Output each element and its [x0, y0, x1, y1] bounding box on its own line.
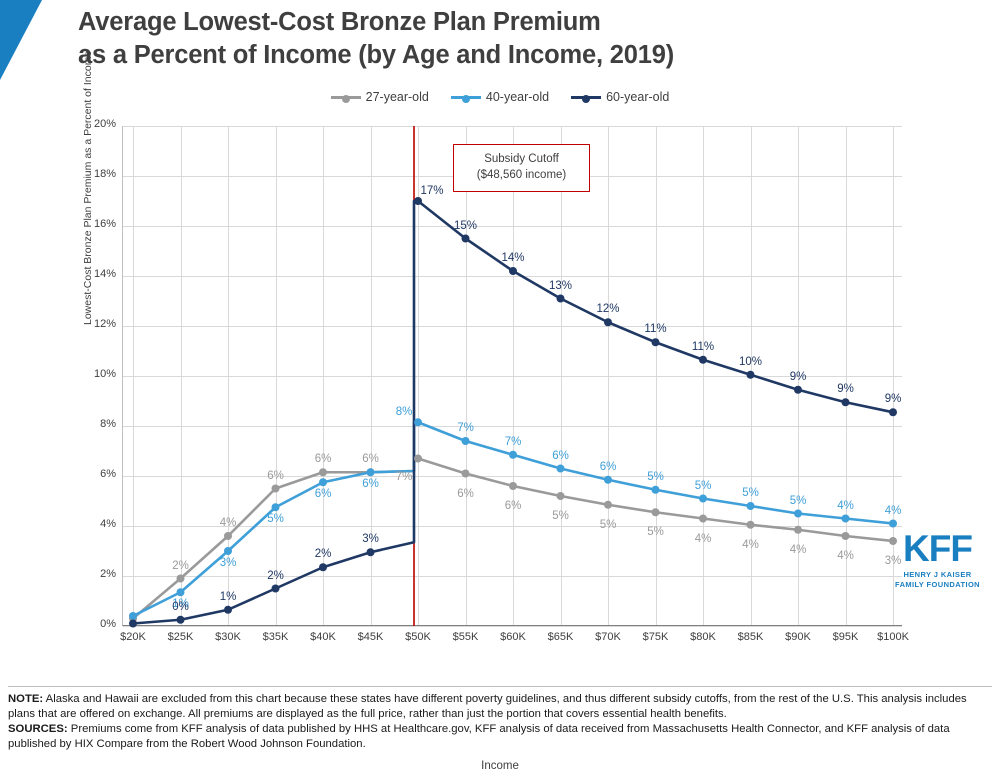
cutoff-line-1: Subsidy Cutoff	[484, 152, 559, 168]
x-tick-label: $65K	[535, 631, 587, 643]
y-tick-label: 0%	[70, 618, 116, 630]
y-tick-label: 18%	[70, 168, 116, 180]
y-axis-label: Lowest-Cost Bronze Plan Premium as a Per…	[82, 51, 94, 325]
footnotes: NOTE: Alaska and Hawaii are excluded fro…	[8, 686, 992, 752]
data-point	[699, 515, 707, 523]
data-label: 6%	[552, 450, 569, 462]
data-label: 1%	[220, 591, 237, 603]
data-point	[747, 371, 755, 379]
plot-canvas: 0%2%4%6%8%10%12%14%16%18%20% $20K$25K$30…	[122, 126, 902, 626]
data-point	[842, 398, 850, 406]
data-point	[129, 620, 137, 628]
data-label: 6%	[600, 461, 617, 473]
data-label: 12%	[596, 303, 619, 315]
data-label: 6%	[267, 470, 284, 482]
data-point	[129, 612, 137, 620]
data-point	[557, 492, 565, 500]
data-label: 6%	[315, 488, 332, 500]
x-tick-label: $70K	[582, 631, 634, 643]
legend-item-60: 60-year-old	[571, 90, 669, 104]
y-tick-label: 12%	[70, 318, 116, 330]
data-label: 5%	[790, 495, 807, 507]
data-point	[794, 526, 802, 534]
data-label: 14%	[501, 252, 524, 264]
data-label: 4%	[790, 544, 807, 556]
data-label: 4%	[837, 550, 854, 562]
data-point	[414, 197, 422, 205]
legend-swatch-60	[571, 96, 601, 99]
data-point	[652, 508, 660, 516]
data-point	[747, 502, 755, 510]
data-label: 5%	[267, 513, 284, 525]
legend-item-40: 40-year-old	[451, 90, 549, 104]
y-tick-label: 6%	[70, 468, 116, 480]
x-tick-label: $30K	[202, 631, 254, 643]
data-label: 2%	[267, 570, 284, 582]
x-tick-label: $75K	[630, 631, 682, 643]
x-axis-label: Income	[0, 760, 1000, 772]
data-point	[509, 451, 517, 459]
x-tick-label: $35K	[250, 631, 302, 643]
data-point	[842, 532, 850, 540]
data-label: 5%	[600, 519, 617, 531]
note-text: Alaska and Hawaii are excluded from this…	[8, 693, 967, 720]
data-label: 4%	[885, 505, 902, 517]
kff-logo: KFF HENRY J KAISER FAMILY FOUNDATION	[895, 530, 980, 590]
data-point	[272, 485, 280, 493]
data-point	[604, 501, 612, 509]
legend-label-60: 60-year-old	[606, 90, 669, 104]
data-point	[699, 356, 707, 364]
data-point	[462, 235, 470, 243]
data-label: 5%	[647, 471, 664, 483]
data-point	[557, 295, 565, 303]
kff-logo-sub: HENRY J KAISER FAMILY FOUNDATION	[895, 570, 980, 590]
data-point	[699, 495, 707, 503]
data-point	[367, 548, 375, 556]
data-point	[652, 338, 660, 346]
data-label: 5%	[742, 487, 759, 499]
title-line-1-text: Average Lowest-Cost Bronze Plan Premium	[78, 6, 958, 39]
data-point	[224, 532, 232, 540]
page-title: Average Lowest-Cost Bronze Plan Premium …	[78, 6, 958, 71]
subsidy-cutoff-annotation: Subsidy Cutoff ($48,560 income)	[453, 144, 590, 192]
data-label: 17%	[420, 185, 443, 197]
data-point	[367, 468, 375, 476]
sources-block: SOURCES: Premiums come from KFF analysis…	[8, 722, 992, 752]
data-point	[557, 465, 565, 473]
sources-label: SOURCES:	[8, 723, 68, 735]
data-label: 5%	[552, 510, 569, 522]
data-label: 5%	[695, 480, 712, 492]
data-point	[842, 515, 850, 523]
data-label: 6%	[505, 500, 522, 512]
data-label: 11%	[644, 323, 666, 335]
series-line-60-year-old	[133, 201, 893, 624]
data-point	[272, 585, 280, 593]
data-label: 15%	[454, 220, 477, 232]
legend-item-27: 27-year-old	[331, 90, 429, 104]
data-label: 6%	[362, 453, 379, 465]
legend-label-27: 27-year-old	[366, 90, 429, 104]
x-tick-label: $60K	[487, 631, 539, 643]
data-point	[414, 455, 422, 463]
decorative-corner	[0, 0, 42, 80]
y-tick-label: 14%	[70, 268, 116, 280]
data-label: 7%	[505, 436, 522, 448]
data-point	[509, 267, 517, 275]
data-point	[652, 486, 660, 494]
data-label: 5%	[647, 526, 664, 538]
data-point	[509, 482, 517, 490]
y-tick-label: 16%	[70, 218, 116, 230]
x-tick-label: $85K	[725, 631, 777, 643]
data-point	[224, 606, 232, 614]
legend-swatch-40	[451, 96, 481, 99]
x-tick-label: $50K	[392, 631, 444, 643]
note-label: NOTE:	[8, 693, 43, 705]
data-point	[272, 503, 280, 511]
x-tick-label: $95K	[820, 631, 872, 643]
data-point	[889, 408, 897, 416]
data-label: 0%	[172, 601, 189, 613]
kff-logo-main: KFF	[895, 530, 980, 567]
data-point	[462, 437, 470, 445]
y-tick-label: 4%	[70, 518, 116, 530]
data-label: 7%	[396, 471, 413, 483]
data-label: 10%	[739, 356, 762, 368]
data-label: 7%	[457, 422, 474, 434]
kff-logo-sub-2: FAMILY FOUNDATION	[895, 580, 980, 590]
y-tick-label: 8%	[70, 418, 116, 430]
title-line-2-text: as a Percent of Income (by Age and Incom…	[78, 39, 958, 72]
chart-legend: 27-year-old 40-year-old 60-year-old	[0, 90, 1000, 104]
data-label: 9%	[885, 393, 902, 405]
x-tick-label: $90K	[772, 631, 824, 643]
sources-text: Premiums come from KFF analysis of data …	[8, 723, 950, 750]
data-point	[462, 470, 470, 478]
gridline-horizontal	[123, 626, 902, 627]
chart-area: Lowest-Cost Bronze Plan Premium as a Per…	[0, 110, 1000, 670]
data-label: 4%	[837, 500, 854, 512]
data-point	[604, 476, 612, 484]
data-label: 4%	[695, 533, 712, 545]
data-label: 4%	[220, 517, 237, 529]
data-point	[177, 616, 185, 624]
data-label: 3%	[362, 533, 379, 545]
data-point	[604, 318, 612, 326]
data-label: 13%	[549, 280, 572, 292]
data-label: 6%	[457, 488, 474, 500]
data-point	[319, 468, 327, 476]
data-label: 4%	[742, 539, 759, 551]
x-tick-label: $40K	[297, 631, 349, 643]
y-tick-label: 2%	[70, 568, 116, 580]
data-label: 6%	[362, 478, 379, 490]
data-label: 9%	[837, 383, 854, 395]
data-point	[747, 521, 755, 529]
x-tick-label: $20K	[107, 631, 159, 643]
note-block: NOTE: Alaska and Hawaii are excluded fro…	[8, 692, 992, 722]
x-tick-label: $80K	[677, 631, 729, 643]
data-point	[177, 588, 185, 596]
data-label: 3%	[220, 557, 237, 569]
data-label: 2%	[172, 560, 189, 572]
y-tick-label: 10%	[70, 368, 116, 380]
data-label: 9%	[790, 371, 807, 383]
legend-swatch-27	[331, 96, 361, 99]
x-tick-label: $55K	[440, 631, 492, 643]
series-lines	[123, 126, 903, 626]
data-point	[889, 520, 897, 528]
data-point	[177, 575, 185, 583]
data-label: 8%	[396, 406, 413, 418]
data-point	[794, 386, 802, 394]
cutoff-line-2: ($48,560 income)	[477, 168, 567, 184]
data-label: 6%	[315, 453, 332, 465]
data-point	[414, 418, 422, 426]
x-tick-label: $25K	[155, 631, 207, 643]
data-label: 2%	[315, 548, 332, 560]
kff-logo-sub-1: HENRY J KAISER	[895, 570, 980, 580]
y-tick-label: 20%	[70, 118, 116, 130]
data-point	[224, 547, 232, 555]
x-tick-label: $100K	[867, 631, 919, 643]
x-tick-label: $45K	[345, 631, 397, 643]
data-point	[319, 478, 327, 486]
data-label: 11%	[692, 341, 714, 353]
data-point	[319, 563, 327, 571]
legend-label-40: 40-year-old	[486, 90, 549, 104]
data-point	[794, 510, 802, 518]
